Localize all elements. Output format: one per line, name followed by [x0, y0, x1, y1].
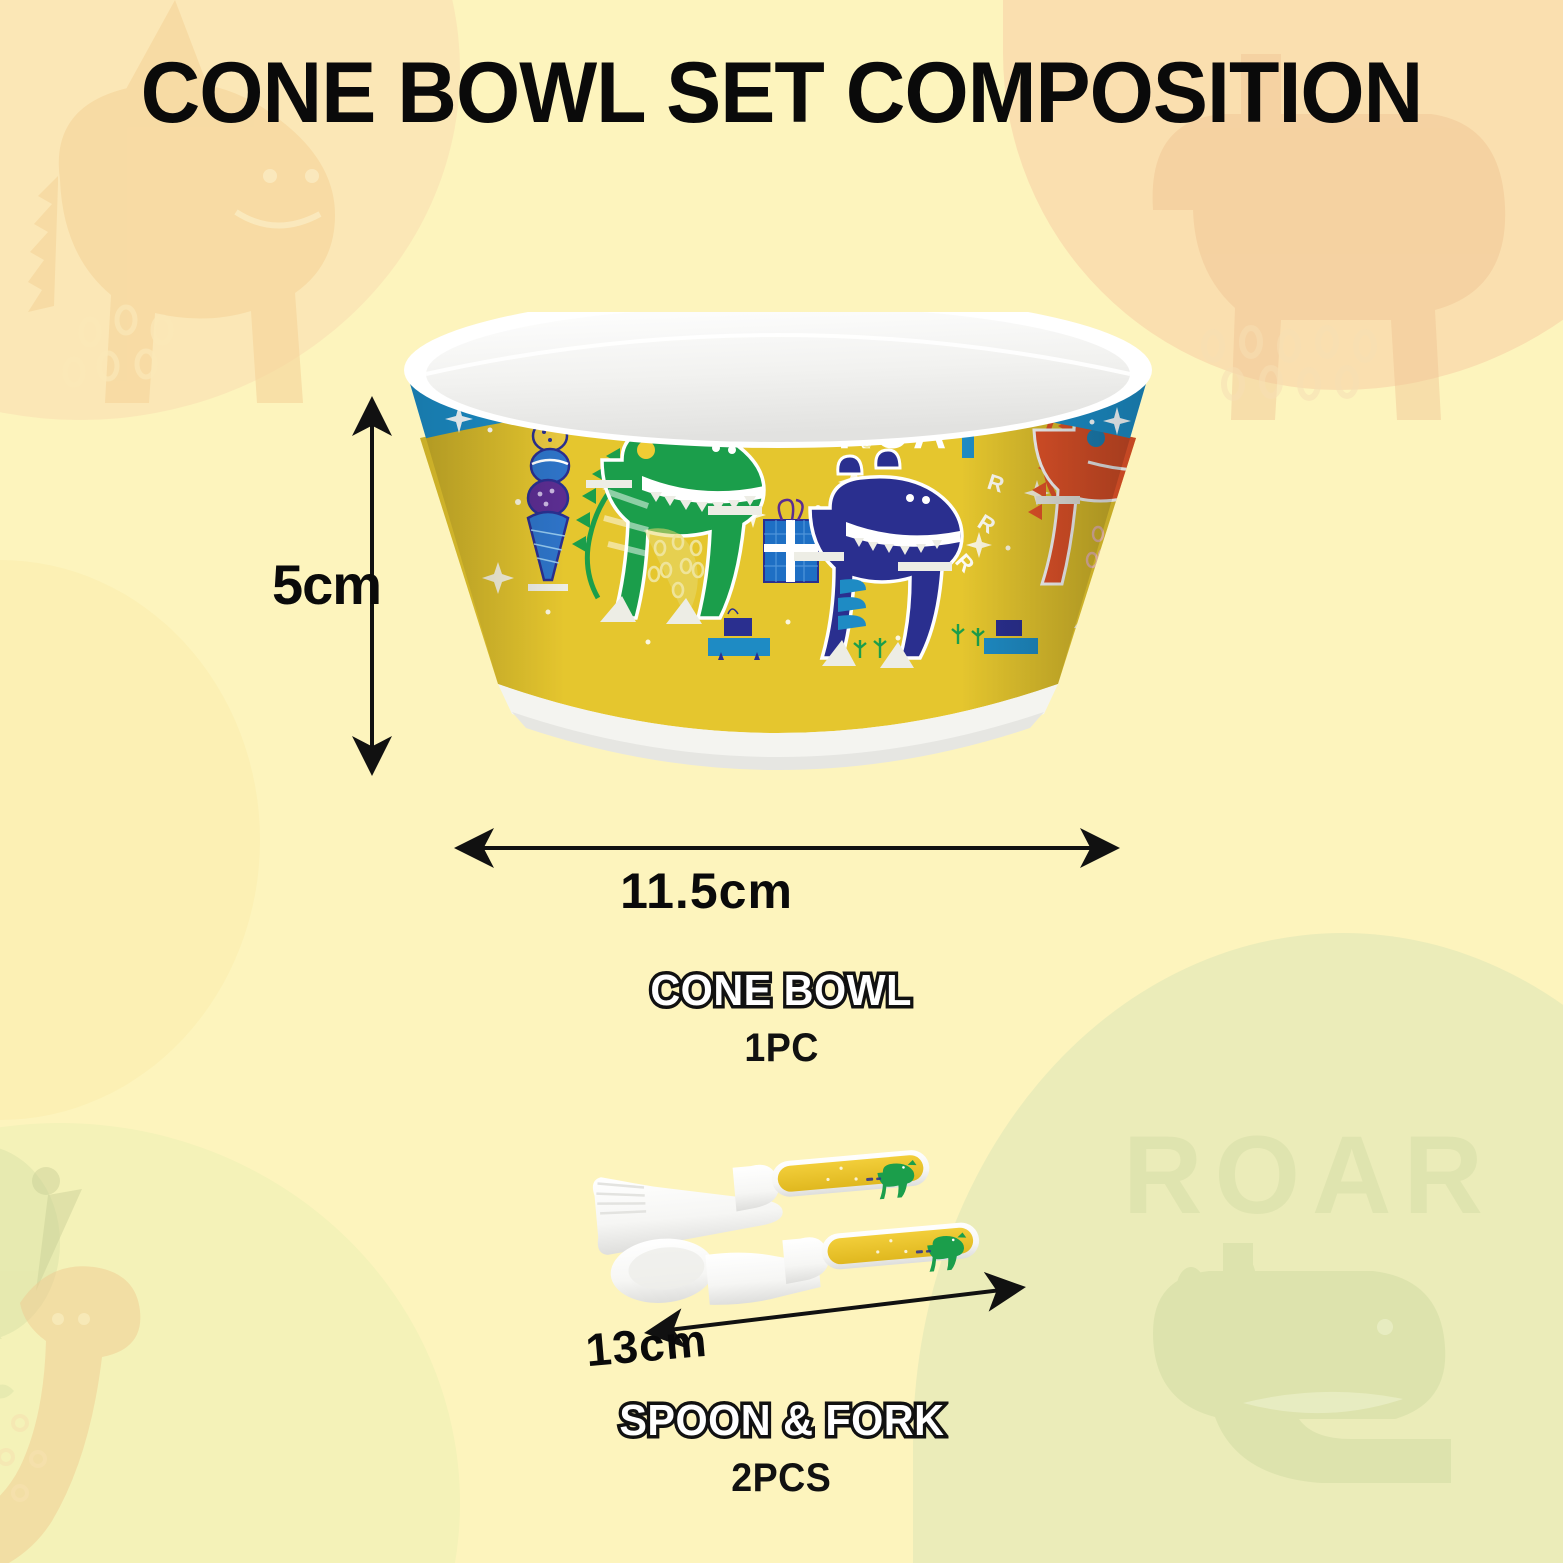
cone-bowl-caption-label: CONE BOWL — [651, 966, 913, 1016]
page-title: CONE BOWL SET COMPOSITION — [31, 44, 1531, 143]
spoon-fork-caption: SPOON & FORK 2PCS — [0, 1396, 1563, 1501]
cone-bowl-caption: CONE BOWL 1PC — [0, 966, 1563, 1071]
spoon-fork-caption-quantity: 2PCS — [731, 1456, 831, 1501]
cone-bowl-caption-quantity: 1PC — [744, 1026, 819, 1071]
bowl-height-dimension-label: 5cm — [272, 552, 381, 617]
spoon-fork-caption-label: SPOON & FORK — [619, 1396, 944, 1446]
svg-text:ROAR: ROAR — [1123, 1114, 1495, 1237]
cone-bowl-product-image: ROA R R R — [398, 312, 1158, 782]
bowl-width-dimension-label: 11.5cm — [0, 862, 1488, 920]
composition-infographic: ROAR CONE BOWL SET COMPOSITION — [0, 0, 1563, 1563]
